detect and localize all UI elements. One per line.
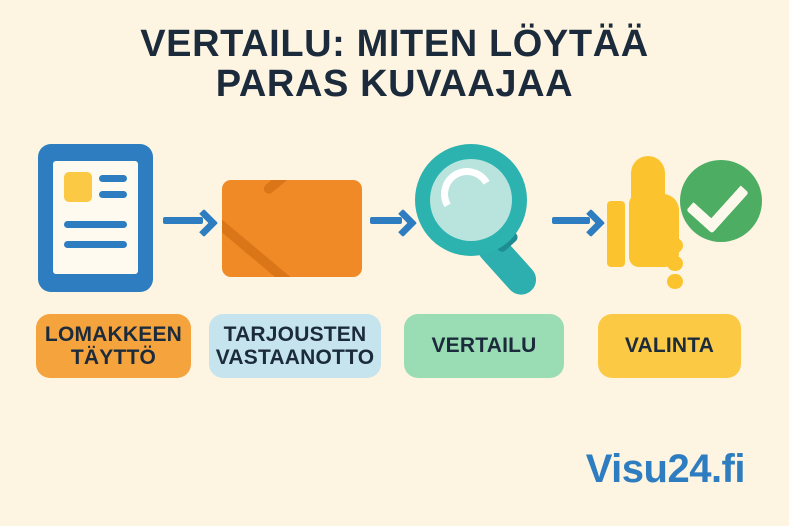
page-title: VERTAILU: MITEN LÖYTÄÄ PARAS KUVAAJAA [0, 24, 789, 105]
thumbs-up-icon [607, 156, 681, 274]
step-label-text: TARJOUSTEN VASTAANOTTO [209, 323, 381, 369]
document-text-line-long-1 [64, 221, 127, 228]
magnifier-lens [430, 159, 512, 241]
thumb-knuckle-3 [667, 274, 683, 289]
thumb-palm [629, 194, 679, 267]
brand-logo[interactable]: Visu24.fi [586, 447, 745, 492]
step-label-text: LOMAKKEEN TÄYTTÖ [36, 323, 191, 369]
magnifier-icon [415, 144, 550, 294]
arrow-head [577, 209, 605, 237]
document-thumbnail-square [64, 172, 92, 202]
envelope-fold-right [262, 180, 347, 196]
arrow-right-icon-1 [163, 208, 215, 232]
process-label-row: LOMAKKEEN TÄYTTÖ TARJOUSTEN VASTAANOTTO … [0, 314, 789, 384]
thumb-cuff [607, 201, 625, 267]
arrow-right-icon-2 [370, 208, 412, 232]
arrow-head [389, 209, 417, 237]
step-label-text: VALINTA [625, 334, 714, 357]
infographic-canvas: VERTAILU: MITEN LÖYTÄÄ PARAS KUVAAJAA [0, 0, 789, 526]
arrow-right-icon-3 [552, 208, 602, 232]
magnifier-ring [415, 144, 527, 256]
thumb-knuckle-1 [667, 238, 683, 253]
thumb-knuckle-2 [667, 256, 683, 271]
envelope-icon [222, 180, 362, 277]
process-icon-row [0, 138, 789, 298]
document-icon [38, 144, 153, 292]
arrow-head [190, 209, 218, 237]
title-line-2: PARAS KUVAAJAA [0, 64, 789, 104]
step-label-line-1: LOMAKKEEN [45, 323, 182, 346]
envelope-fold-left [222, 217, 298, 277]
step-label-text: VERTAILU [431, 334, 536, 357]
magnifier-glint [435, 162, 499, 226]
step-label-line-1: TARJOUSTEN [224, 323, 367, 346]
step-label-valinta[interactable]: VALINTA [598, 314, 741, 378]
document-page [53, 161, 138, 274]
check-mark [686, 169, 749, 233]
document-text-line-long-2 [64, 241, 127, 248]
step-label-line-2: TÄYTTÖ [71, 346, 156, 369]
step-label-tarjousten-vastaanotto[interactable]: TARJOUSTEN VASTAANOTTO [209, 314, 381, 378]
document-text-line-short-2 [99, 191, 127, 198]
step-label-lomakkeen-taytto[interactable]: LOMAKKEEN TÄYTTÖ [36, 314, 191, 378]
document-text-line-short-1 [99, 175, 127, 182]
title-line-1: VERTAILU: MITEN LÖYTÄÄ [0, 24, 789, 64]
step-label-vertailu[interactable]: VERTAILU [404, 314, 564, 378]
check-circle-icon [680, 160, 762, 242]
step-label-line-2: VASTAANOTTO [216, 346, 375, 369]
